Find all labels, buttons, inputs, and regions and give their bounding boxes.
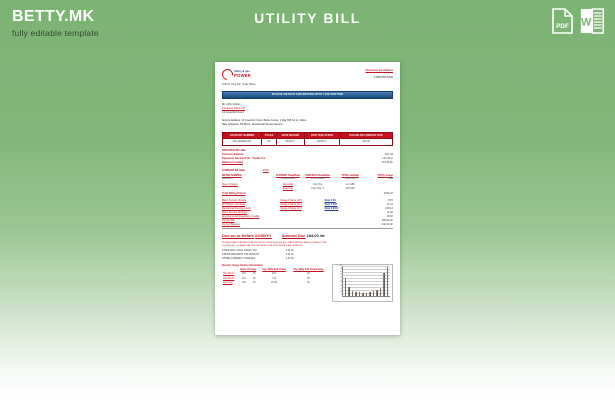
- hist-col-avg: Avg. Daily kwh Usage: [259, 269, 289, 273]
- word-file-icon[interactable]: W: [580, 8, 601, 34]
- kwh-label: KWH: [263, 169, 269, 173]
- chart-bar: [383, 273, 385, 296]
- balance-forward-value: 173.43 /dr: [381, 161, 393, 165]
- chart-bar: [387, 267, 389, 296]
- utility-identity: utility & gas POWER 1234 S. King Rd., Su…: [222, 69, 256, 87]
- amount-due-block: Amount Due 184.00 /dr: [282, 233, 325, 239]
- chart-x-tick: D: [373, 297, 374, 299]
- due-summary-row: Due on or before 04/30/YY Amount Due 184…: [222, 233, 393, 239]
- account-summary-value-row: 254-1200066-237 08 04/09/YY 04/30/YY 184…: [223, 139, 393, 145]
- usage-history-table-wrap: Electric Usage History Information Days …: [222, 264, 328, 302]
- utility-logo: utility & gas POWER: [222, 69, 256, 80]
- hist-avg: 16.84: [259, 282, 289, 287]
- logo-swirl-icon: [220, 67, 235, 82]
- val-past-due-after: 04/30/YY: [304, 139, 339, 145]
- meter-row-previous: 21774 03/09: [302, 177, 333, 180]
- tax-value: 2.14 /dr: [286, 257, 294, 261]
- balance-forward-row: Balance Forward 173.43 /dr: [222, 161, 393, 165]
- brand-tagline: fully editable template: [12, 26, 99, 40]
- meter-charges-row-2: Rate Chg Tran Chg / 1 487.000: [222, 187, 393, 190]
- chart-x-tick: J: [355, 297, 356, 299]
- chart-x-tick: M: [348, 297, 349, 299]
- chart-x-tick: S: [362, 297, 363, 299]
- meter-row-total-kwh: 1352 / 30: [333, 177, 367, 180]
- amount-due-value: 184.00 /dr: [307, 233, 325, 238]
- document-preview-sheet[interactable]: utility & gas POWER 1234 S. King Rd., Su…: [215, 62, 400, 335]
- meter-row-current: 23126 04/08: [273, 177, 302, 180]
- customer-street: 14 Greenfort Court: [222, 111, 393, 115]
- charges-list: Basic Service Charge Usage Charge 24.5 R…: [222, 199, 393, 227]
- chart-x-tick: J: [352, 297, 353, 299]
- utility-bill-document: utility & gas POWER 1234 S. King Rd., Su…: [222, 69, 393, 328]
- top-banner: BETTY.MK fully editable template UTILITY…: [0, 0, 615, 55]
- meter-charges2-label: [222, 187, 273, 190]
- logo-line2: POWER: [234, 73, 251, 79]
- detach-banner: PLEASE DETACH AND RETURN WITH THIS PORTI…: [222, 91, 393, 99]
- pdf-file-icon[interactable]: PDF: [552, 8, 573, 34]
- amount-due-label: Amount Due: [282, 233, 306, 238]
- hist-days: 139: [238, 282, 250, 287]
- chart-bars: [343, 266, 390, 296]
- due-on-before-block: Due on or before 04/30/YY: [222, 233, 272, 239]
- charge-label: Current Balance: [222, 223, 280, 227]
- rate-schedule-line: Rate Schedule: RS Block - Residential Se…: [222, 123, 393, 127]
- current-billing-title: CURRENT BILLING: [222, 169, 245, 173]
- val-amount-due: 184.00: [339, 139, 392, 145]
- charge-usage: [280, 223, 324, 227]
- document-header: utility & gas POWER 1234 S. King Rd., Su…: [222, 69, 393, 87]
- customer-assistance-block: Customer Assistance 1-800-554-5200: [366, 69, 393, 87]
- hist-col-temp: Avg. Daily kwh Temperature: [289, 269, 327, 273]
- svg-text:PDF: PDF: [556, 23, 569, 30]
- total-billing-period-value: 1379.47: [384, 192, 393, 196]
- meter-charges2-blank: [367, 187, 393, 190]
- table-row: Last Year 139 29 16.84 40: [222, 282, 328, 287]
- chart-x-tick: J: [377, 297, 378, 299]
- chart-x-axis: AMJJASONDJFMA: [343, 296, 390, 298]
- meter-charges2-val: 487.000: [333, 187, 367, 190]
- chart-bar: [380, 288, 382, 296]
- meter-charges2-rate: Rate Chg: [273, 187, 302, 190]
- balance-forward-label: Balance Forward: [222, 161, 243, 165]
- hist-temp: 40: [289, 282, 327, 287]
- due-date: 04/30/YY: [255, 233, 271, 238]
- total-billing-period-label: Total Billing Period: [222, 192, 245, 196]
- charge-rate: [325, 223, 359, 227]
- section-divider: [222, 228, 393, 229]
- meter-row: 90016274 23126 04/08 21774 03/09 1352 / …: [222, 177, 393, 180]
- meter-row-number: 90016274: [222, 177, 273, 180]
- svg-text:W: W: [581, 17, 592, 29]
- tax-row: OTHER CURRENT CHARGES 2.14 /dr: [222, 257, 294, 261]
- usage-history-section: Electric Usage History Information Days …: [222, 264, 393, 302]
- chart-x-tick: M: [384, 297, 385, 299]
- val-account-number: 254-1200066-237: [223, 139, 262, 145]
- file-format-icons: PDF W: [552, 8, 601, 34]
- due-on-before-label: Due on or before: [222, 233, 254, 238]
- hist-col-days: Days of Usage: [238, 269, 259, 273]
- val-date-mailed: 04/09/YY: [276, 139, 304, 145]
- customer-assistance-phone: 1-800-554-5200: [366, 76, 393, 80]
- total-billing-period-row: Total Billing Period 1379.47: [222, 192, 393, 196]
- tax-rows: STATE AND LOCAL SALES TAX 3.14 /dr GROSS…: [222, 249, 393, 261]
- tax-label: OTHER CURRENT CHARGES: [222, 257, 255, 261]
- service-details-block: Service Address: 14 Greenfort Court, Boi…: [222, 119, 393, 127]
- customer-address-block: Mr. John Citizen Company Name Ltd 14 Gre…: [222, 103, 393, 115]
- chart-x-tick: A: [344, 297, 345, 299]
- utility-address: 1234 S. King Rd., Suite, Boise: [222, 83, 256, 87]
- chart-frame: 1009080706050403020100 AMJJASONDJFMA: [332, 264, 393, 302]
- val-cycle: 08: [262, 139, 277, 145]
- meter-charges2-tran: Tran Chg / 1: [302, 187, 333, 190]
- customer-assistance-label: Customer Assistance: [366, 69, 393, 72]
- charge-amount: 442.12 /dr: [359, 223, 393, 227]
- meter-row-total-usage: 1352: [367, 177, 393, 180]
- usage-bar-chart: 1009080706050403020100 AMJJASONDJFMA: [332, 264, 393, 302]
- account-summary-table: ACCOUNT NUMBER CYCLE DATE MAILED PAST DU…: [222, 132, 393, 146]
- chart-x-tick: F: [380, 297, 381, 299]
- usage-history-title: Electric Usage History Information: [222, 264, 328, 268]
- usage-history-table: Days of Usage Avg. Daily kwh Usage Avg. …: [222, 269, 328, 286]
- chart-x-tick: N: [370, 297, 371, 299]
- chart-bar: [376, 290, 378, 297]
- chart-bar: [348, 287, 350, 296]
- page-title: UTILITY BILL: [0, 10, 615, 26]
- current-billing-header: CURRENT BILLING KWH: [222, 169, 393, 173]
- chart-y-tick: 0: [333, 295, 342, 297]
- chart-y-axis: 1009080706050403020100: [333, 265, 342, 301]
- chart-x-tick: A: [388, 297, 389, 299]
- hist-period: Last Year: [222, 282, 238, 287]
- chart-x-tick: O: [366, 297, 367, 299]
- chart-bar: [345, 278, 347, 297]
- chart-x-tick: A: [359, 297, 360, 299]
- bill-message: PLEASE READ: PAYMENTS RECEIVED BY US AFT…: [222, 242, 328, 249]
- hist-days2: 29: [250, 282, 259, 287]
- chart-plot-area: AMJJASONDJFMA: [342, 266, 390, 297]
- charge-row: Current Balance 442.12 /dr: [222, 223, 393, 227]
